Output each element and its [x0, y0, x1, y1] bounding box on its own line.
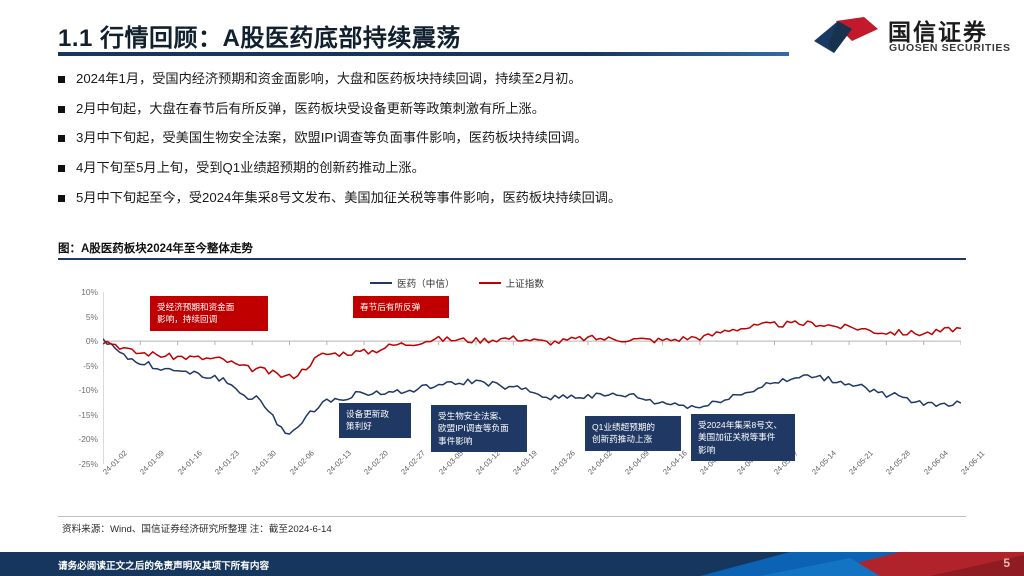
legend-item-sse: 上证指数 [479, 276, 544, 290]
square-bullet-icon [58, 76, 65, 83]
chart-legend: 医药（中信） 上证指数 [370, 276, 544, 290]
square-bullet-icon [58, 135, 65, 142]
chart-container: 医药（中信） 上证指数 10%5%0%-5%-10%-15%-20%-25% 2… [58, 266, 966, 506]
list-item-label: 4月下旬至5月上旬，受到Q1业绩超预期的创新药推动上涨。 [76, 159, 425, 176]
legend-label: 医药（中信） [397, 276, 455, 290]
y-axis-tick-label: -10% [58, 385, 98, 395]
list-item: 2月中旬起，大盘在春节后有所反弹，医药板块受设备更新等政策刺激有所上涨。 [58, 100, 958, 117]
title-underline [58, 52, 789, 56]
legend-swatch-line [479, 282, 501, 284]
list-item-label: 2024年1月，受国内经济预期和资金面影响，大盘和医药板块持续回调，持续至2月初… [76, 70, 582, 87]
square-bullet-icon [58, 195, 65, 202]
list-item-label: 2月中旬起，大盘在春节后有所反弹，医药板块受设备更新等政策刺激有所上涨。 [76, 100, 545, 117]
slide-footer: 请务必阅读正文之后的免责声明及其项下所有内容 5 [0, 552, 1024, 576]
figure-caption-rule [58, 258, 966, 260]
source-rule [58, 516, 966, 517]
square-bullet-icon [58, 106, 65, 113]
y-axis-tick-label: 5% [58, 312, 98, 322]
legend-item-pharma: 医药（中信） [370, 276, 455, 290]
figure-caption: 图：A股医药板块2024年至今整体走势 [58, 240, 253, 256]
company-logo: 国信证券 GUOSEN SECURITIES [812, 13, 1002, 61]
y-axis-tick-label: -25% [58, 459, 98, 469]
source-note: 资料来源：Wind、国信证券经济研究所整理 注：截至2024-6-14 [62, 521, 332, 535]
list-item: 5月中下旬起至今，受2024年集采8号文发布、美国加征关税等事件影响，医药板块持… [58, 189, 958, 206]
y-axis-tick-label: 10% [58, 287, 98, 297]
chart-series-line [103, 339, 961, 434]
square-bullet-icon [58, 165, 65, 172]
chart-annotation-label: Q1业绩超预期的 创新药推动上涨 [585, 416, 681, 451]
page-title: 1.1 行情回顾：A股医药底部持续震荡 [58, 18, 461, 53]
list-item: 3月中下旬起，受美国生物安全法案，欧盟IPI调查等负面事件影响，医药板块持续回调… [58, 129, 958, 146]
list-item: 4月下旬至5月上旬，受到Q1业绩超预期的创新药推动上涨。 [58, 159, 958, 176]
bullet-list: 2024年1月，受国内经济预期和资金面影响，大盘和医药板块持续回调，持续至2月初… [58, 70, 958, 218]
y-axis-tick-label: -5% [58, 361, 98, 371]
list-item-label: 3月中下旬起，受美国生物安全法案，欧盟IPI调查等负面事件影响，医药板块持续回调… [76, 129, 587, 146]
list-item: 2024年1月，受国内经济预期和资金面影响，大盘和医药板块持续回调，持续至2月初… [58, 70, 958, 87]
logo-english-name: GUOSEN SECURITIES [889, 42, 1011, 54]
y-axis-tick-label: 0% [58, 336, 98, 346]
x-axis-tick-label: 24-06-11 [959, 449, 986, 476]
chart-annotation-label: 春节后有所反弹 [353, 296, 449, 318]
chart-annotation-label: 受生物安全法案、 欧盟IPI调查等负面 事件影响 [431, 405, 527, 452]
chart-annotation-label: 设备更新政 策利好 [339, 403, 411, 438]
chart-annotation-label: 受2024年集采8号文、 美国加征关税等事件 影响 [691, 414, 795, 461]
y-axis-tick-label: -15% [58, 410, 98, 420]
page-number: 5 [1003, 556, 1010, 570]
chart-annotation-label: 受经济预期和资金面 影响，持续回调 [150, 296, 268, 331]
guosen-logo-icon [812, 15, 880, 55]
list-item-label: 5月中下旬起至今，受2024年集采8号文发布、美国加征关税等事件影响，医药板块持… [76, 189, 621, 206]
slide-header: 1.1 行情回顾：A股医药底部持续震荡 国信证券 GUOSEN SECURITI… [0, 0, 1024, 62]
y-axis-tick-label: -20% [58, 434, 98, 444]
legend-swatch-line [370, 282, 392, 284]
legend-label: 上证指数 [506, 276, 544, 290]
footer-disclaimer: 请务必阅读正文之后的免责声明及其项下所有内容 [58, 558, 269, 572]
